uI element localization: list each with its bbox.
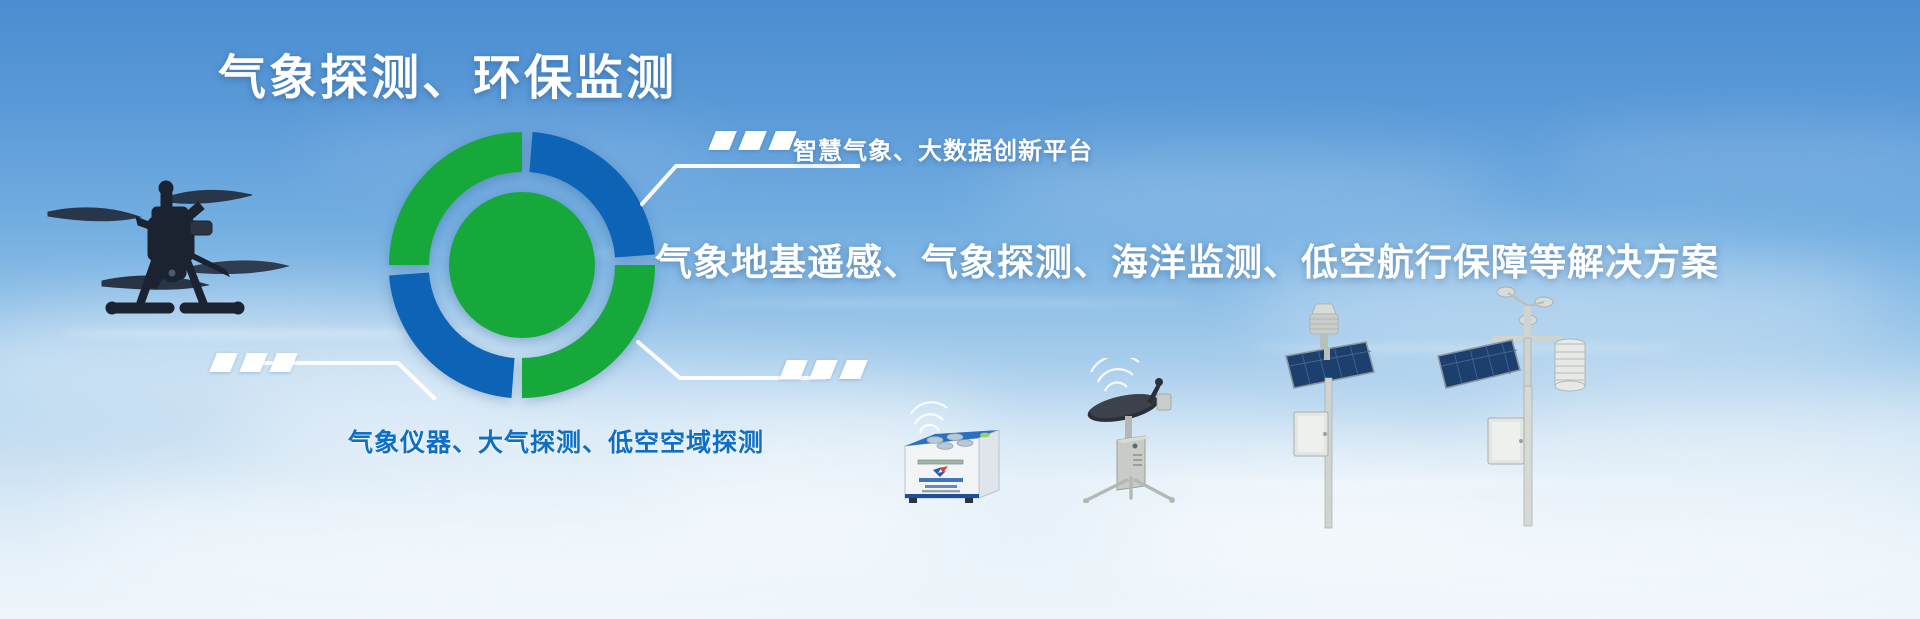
slash-mark <box>209 353 238 372</box>
cloud-streak <box>700 300 1200 306</box>
accent-slashes-bottom-right <box>783 360 864 379</box>
cloud-shape <box>1550 120 1920 190</box>
ring-diagram <box>389 132 655 398</box>
accent-slashes-bottom-left <box>213 353 294 372</box>
page-title: 气象探测、环保监测 <box>218 50 677 108</box>
drone-illustration <box>40 155 290 350</box>
slash-mark <box>738 131 767 150</box>
slash-mark <box>269 353 298 372</box>
cloud-shape <box>60 470 960 590</box>
callout-label-top-right: 智慧气象、大数据创新平台 <box>793 131 1093 166</box>
slash-mark <box>708 131 737 150</box>
slash-mark <box>839 360 868 379</box>
slash-mark <box>239 353 268 372</box>
solar-weather-station-1 <box>1270 300 1390 530</box>
slash-mark <box>779 360 808 379</box>
callout-label-bottom-left: 气象仪器、大气探测、低空空域探测 <box>348 423 764 459</box>
ring-center-disc <box>449 192 595 338</box>
accent-slashes-top-right <box>712 131 793 150</box>
solar-weather-station-2 <box>1420 278 1600 528</box>
wind-lidar-device <box>893 398 1023 508</box>
slash-mark <box>809 360 838 379</box>
radar-dish-device <box>1065 358 1195 503</box>
hero-banner: 气象探测、环保监测 智慧气象、大数据创新平台 气象地基遥感、气象探测、海 <box>0 0 1920 619</box>
